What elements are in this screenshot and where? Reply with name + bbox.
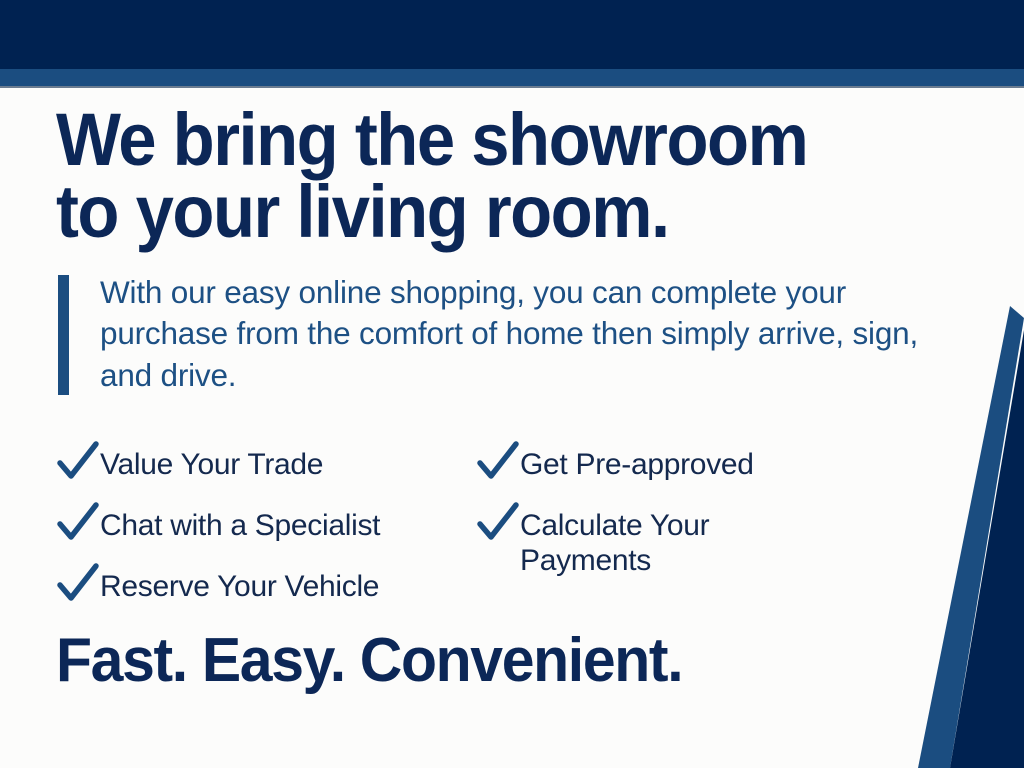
feature-item-calculate-your-payments[interactable]: Calculate Your Payments [476, 505, 709, 579]
feature-item-value-your-trade[interactable]: Value Your Trade [56, 444, 323, 484]
feature-label: Chat with a Specialist [100, 505, 380, 544]
feature-label: Calculate Your Payments [520, 505, 709, 579]
tagline: Fast. Easy. Convenient. [56, 630, 682, 692]
headline: We bring the showroom to your living roo… [56, 104, 884, 248]
header-band-dark [0, 0, 1024, 69]
subhead-text: With our easy online shopping, you can c… [100, 272, 946, 398]
diagonal-wedge-navy [950, 330, 1024, 768]
promo-banner: We bring the showroom to your living roo… [0, 0, 1024, 768]
feature-label: Value Your Trade [100, 444, 323, 483]
feature-item-reserve-your-vehicle[interactable]: Reserve Your Vehicle [56, 566, 379, 606]
feature-item-get-pre-approved[interactable]: Get Pre-approved [476, 444, 754, 484]
feature-label: Reserve Your Vehicle [100, 566, 379, 605]
banner-content: We bring the showroom to your living roo… [56, 104, 946, 397]
header-divider-rule [0, 86, 1024, 88]
subhead-block: With our easy online shopping, you can c… [56, 272, 946, 398]
check-icon [476, 440, 520, 484]
feature-item-chat-with-a-specialist[interactable]: Chat with a Specialist [56, 505, 380, 545]
check-icon [56, 501, 100, 545]
check-icon [56, 562, 100, 606]
header-band-accent [0, 69, 1024, 86]
check-icon [56, 440, 100, 484]
feature-label: Get Pre-approved [520, 444, 754, 483]
check-icon [476, 501, 520, 545]
subhead-accent-bar [58, 275, 69, 395]
